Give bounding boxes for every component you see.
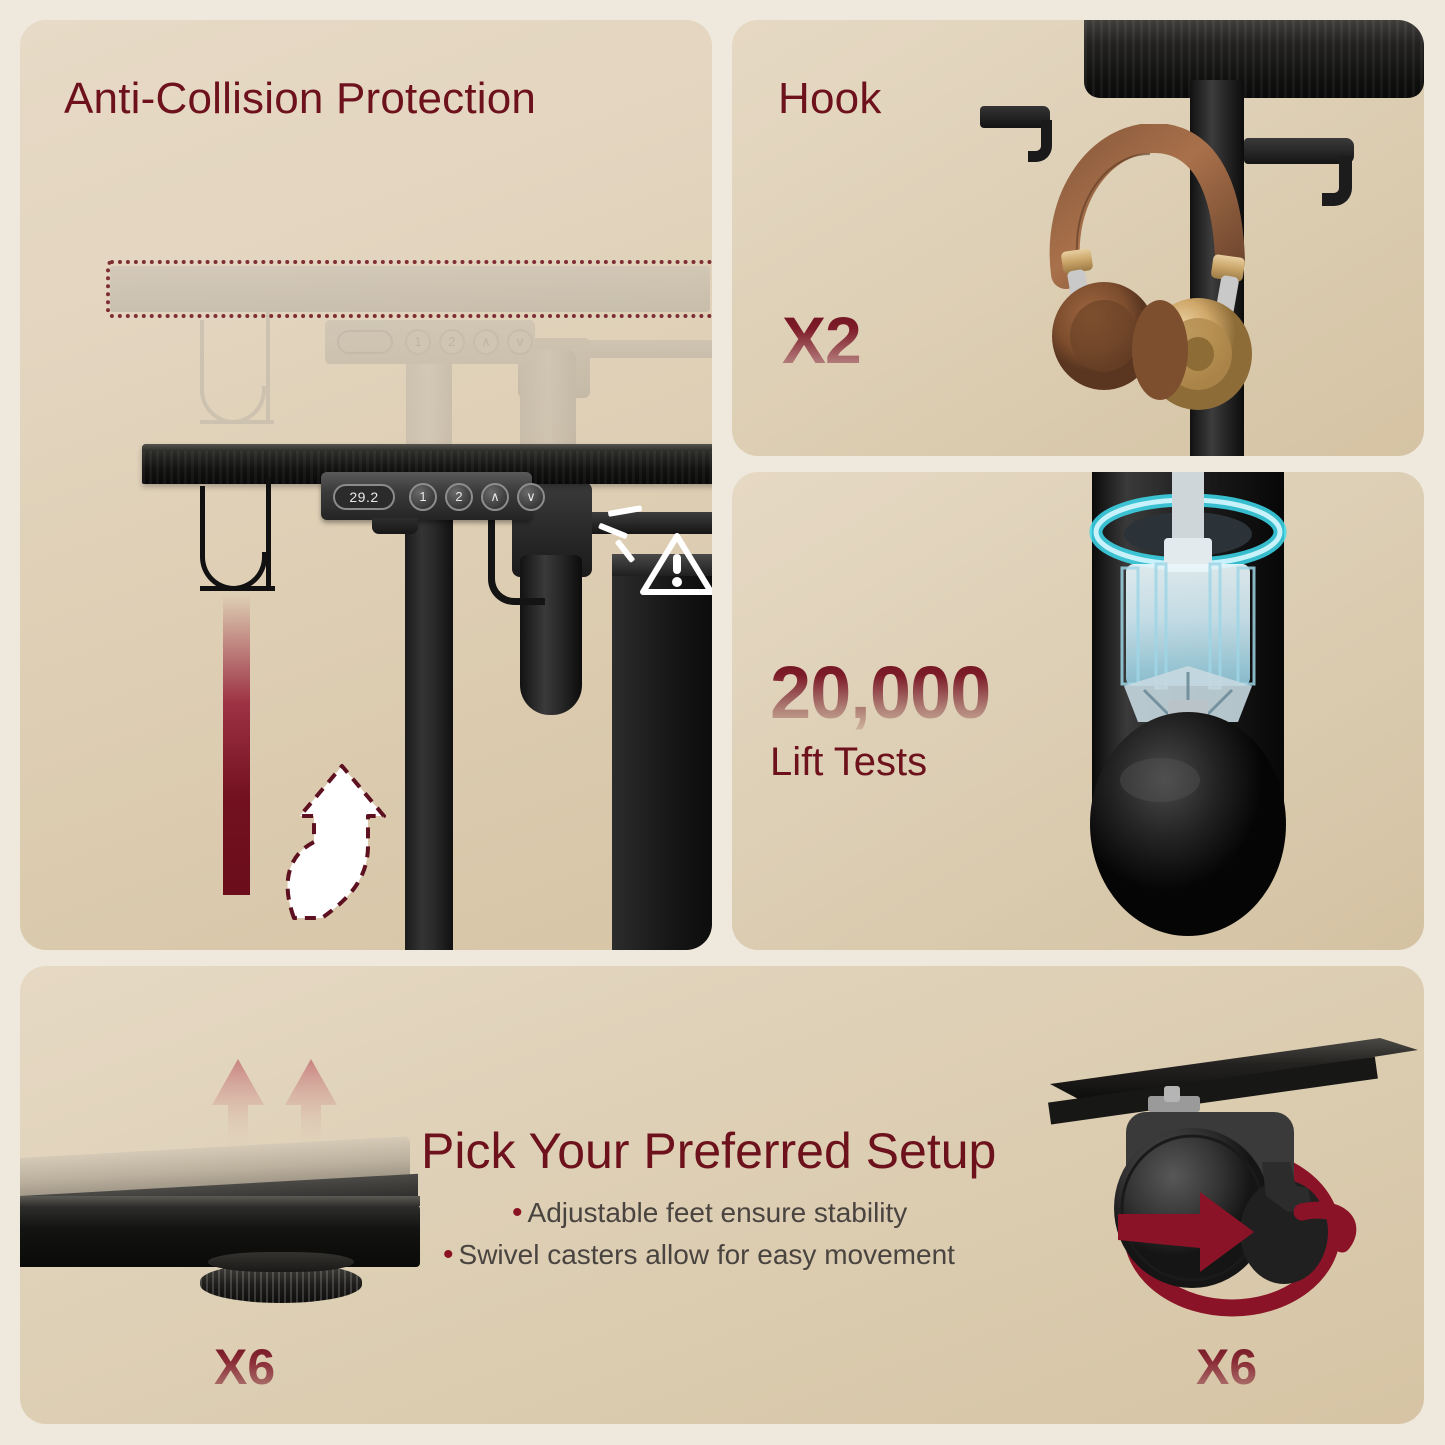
lift-test-count: 20,000 bbox=[770, 650, 990, 735]
hook-quantity-badge: X2 bbox=[782, 302, 861, 378]
preset-2-button[interactable]: 2 bbox=[445, 483, 473, 511]
panel-anti-collision: 1 2 ∧ ∨ 29.2 1 2 ∧ ∨ bbox=[20, 20, 712, 950]
lift-test-label: Lift Tests bbox=[770, 740, 927, 785]
ghost-control-panel: 1 2 ∧ ∨ bbox=[325, 320, 535, 364]
preset-1-button[interactable]: 1 bbox=[409, 483, 437, 511]
down-button[interactable]: ∨ bbox=[517, 483, 545, 511]
ghost-preset-2-button: 2 bbox=[439, 329, 465, 355]
rebound-arrow-icon bbox=[252, 750, 402, 920]
hook-stem bbox=[266, 478, 271, 590]
swivel-caster-image bbox=[1040, 1036, 1420, 1336]
up-arrow-icon bbox=[210, 1057, 266, 1149]
desk-leg bbox=[405, 520, 453, 950]
ghost-down-button: ∨ bbox=[507, 329, 533, 355]
collision-dashed-outline bbox=[106, 260, 712, 318]
ghost-hook-stem bbox=[266, 312, 270, 424]
bullet-item: •Adjustable feet ensure stability bbox=[512, 1196, 907, 1230]
page-title-anti-collision: Anti-Collision Protection bbox=[64, 74, 536, 124]
warning-triangle-icon bbox=[640, 532, 712, 596]
obstacle-block bbox=[612, 554, 712, 950]
bullet-marker: • bbox=[512, 1196, 523, 1229]
feet-quantity-badge: X6 bbox=[214, 1338, 275, 1396]
bullet-item: •Swivel casters allow for easy movement bbox=[443, 1238, 955, 1272]
hook-icon bbox=[200, 486, 275, 591]
bullet-text: Swivel casters allow for easy movement bbox=[459, 1239, 955, 1270]
ghost-height-display bbox=[337, 330, 393, 354]
panel-hook: Hook bbox=[732, 20, 1424, 456]
page-title-setup: Pick Your Preferred Setup bbox=[421, 1122, 996, 1180]
caster-quantity-badge: X6 bbox=[1196, 1338, 1257, 1396]
bullet-text: Adjustable feet ensure stability bbox=[528, 1197, 908, 1228]
ghost-hook-icon bbox=[200, 320, 274, 424]
height-display: 29.2 bbox=[333, 484, 395, 510]
power-cable bbox=[488, 518, 545, 605]
headphones-image bbox=[1032, 124, 1332, 424]
ghost-preset-1-button: 1 bbox=[405, 329, 431, 355]
ghost-up-button: ∧ bbox=[473, 329, 499, 355]
up-arrow-icon bbox=[283, 1057, 339, 1149]
page-title-hook: Hook bbox=[778, 74, 882, 124]
motor-cutaway-image bbox=[1052, 472, 1322, 950]
adjustable-foot bbox=[200, 1263, 362, 1303]
travel-gradient-bar bbox=[223, 595, 250, 895]
hook-desktop bbox=[1084, 20, 1424, 98]
infographic-page: 1 2 ∧ ∨ 29.2 1 2 ∧ ∨ bbox=[0, 0, 1445, 1445]
control-panel[interactable]: 29.2 1 2 ∧ ∨ bbox=[321, 472, 532, 520]
up-button[interactable]: ∧ bbox=[481, 483, 509, 511]
bullet-marker: • bbox=[443, 1238, 454, 1271]
control-panel-tab bbox=[372, 518, 418, 534]
